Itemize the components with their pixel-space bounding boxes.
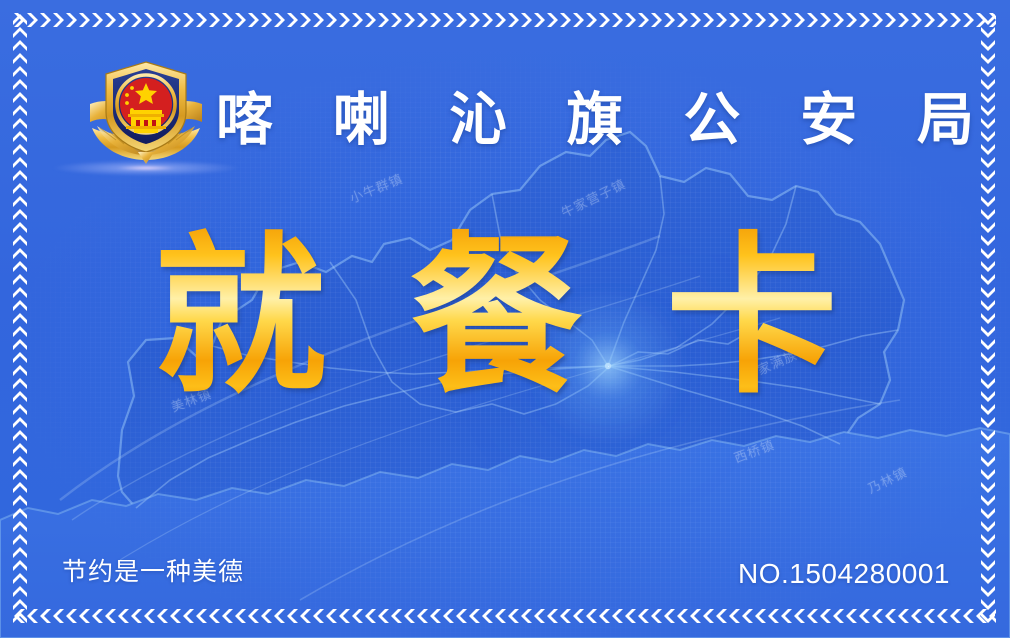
card-main-title: 就 餐 卡	[0, 226, 1010, 408]
map-label: 乃林镇	[864, 462, 910, 497]
map-label: 小牛群镇	[346, 168, 405, 207]
dining-card: 小牛群镇 牛家营子镇 美林镇 十家满族乡 西桥镇 乃林镇	[0, 0, 1010, 638]
card-serial-number: NO.1504280001	[738, 558, 950, 590]
map-label: 西桥镇	[731, 434, 777, 466]
china-police-badge-icon	[82, 56, 210, 174]
border-chevrons-top	[0, 12, 1010, 30]
map-label: 牛家营子镇	[557, 174, 628, 222]
border-chevrons-bottom	[0, 608, 1010, 626]
organization-title: 喀 喇 沁 旗 公 安 局	[216, 74, 996, 156]
badge-tiananmen	[126, 110, 166, 129]
map-lowland-region	[0, 428, 1010, 638]
footer-motto: 节约是一种美德	[62, 552, 244, 588]
